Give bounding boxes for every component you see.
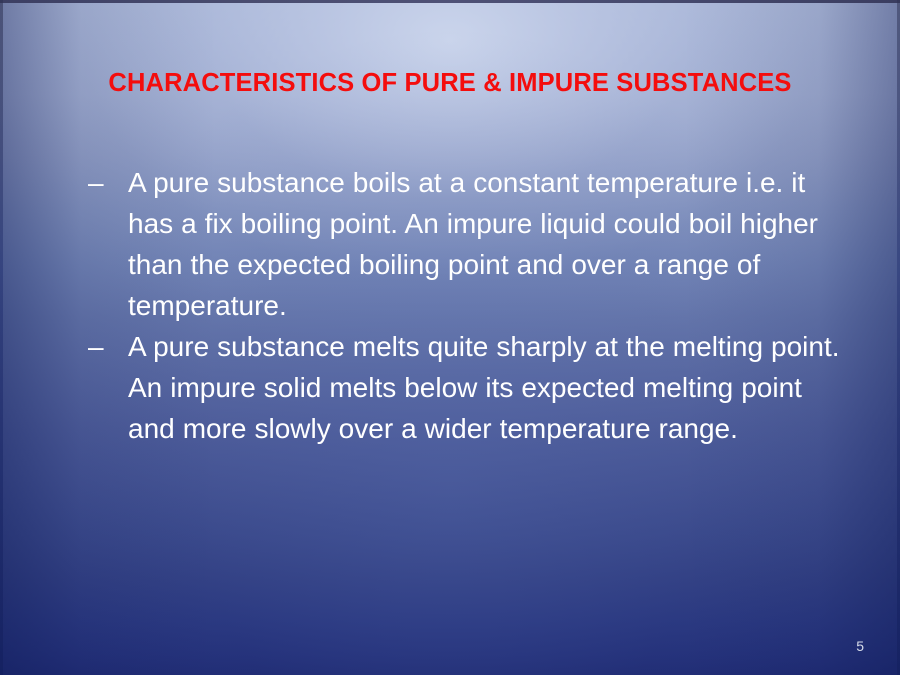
slide-title: CHARACTERISTICS OF PURE & IMPURE SUBSTAN… <box>0 66 900 100</box>
bullet-dash-marker: – <box>88 326 128 367</box>
bullet-text: A pure substance boils at a constant tem… <box>128 162 840 326</box>
slide-top-edge-border <box>0 0 900 3</box>
slide-left-edge-border <box>0 0 3 675</box>
bullet-text: A pure substance melts quite sharply at … <box>128 326 840 449</box>
slide-page-number: 5 <box>856 637 864 655</box>
slide-body-content: – A pure substance boils at a constant t… <box>88 162 840 449</box>
presentation-slide: CHARACTERISTICS OF PURE & IMPURE SUBSTAN… <box>0 0 900 675</box>
bullet-item-1: – A pure substance boils at a constant t… <box>88 162 840 326</box>
bullet-item-2: – A pure substance melts quite sharply a… <box>88 326 840 449</box>
bullet-dash-marker: – <box>88 162 128 203</box>
